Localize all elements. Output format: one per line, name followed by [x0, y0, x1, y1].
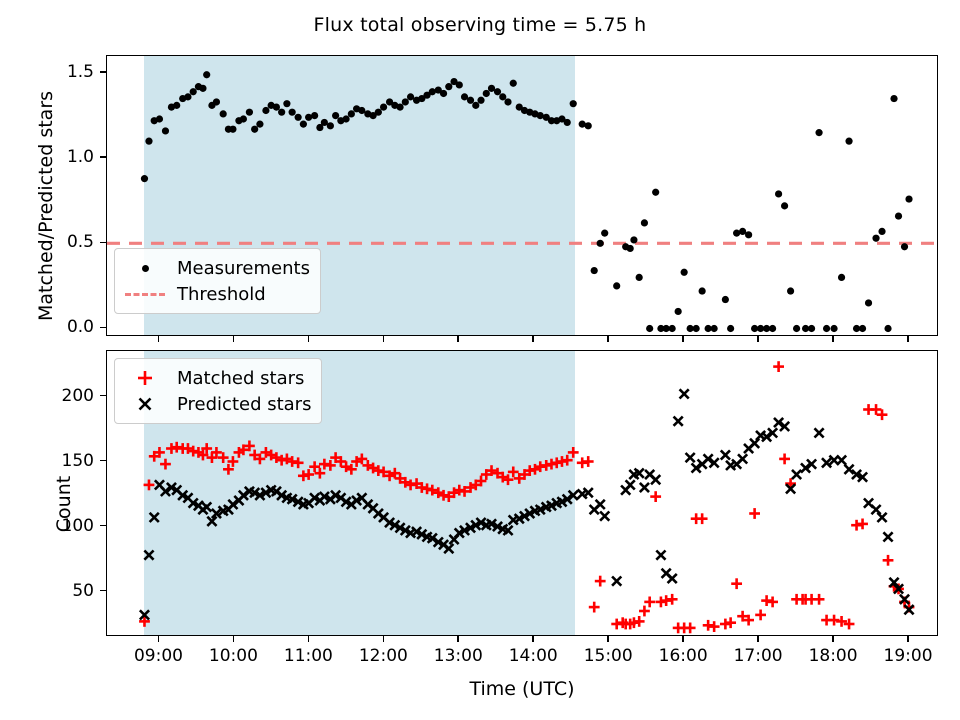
bottom-panel-legend: Matched stars Predicted stars — [114, 358, 322, 424]
x-tick-mark — [907, 336, 909, 342]
legend-label-predicted-stars: Predicted stars — [167, 394, 311, 415]
x-tick-mark — [158, 636, 160, 642]
legend-item-measurements: Measurements — [123, 255, 310, 281]
legend-label-threshold: Threshold — [167, 284, 266, 305]
x-tick-mark — [682, 336, 684, 342]
x-tick-mark — [457, 336, 459, 342]
y-tick-mark — [100, 395, 106, 397]
plus-marker-icon — [123, 368, 167, 388]
x-tick-label: 14:00 — [493, 646, 573, 666]
y-tick-label: 1.0 — [30, 147, 94, 167]
legend-item-predicted-stars: Predicted stars — [123, 391, 311, 417]
y-tick-mark — [100, 242, 106, 244]
figure-canvas: Flux total observing time = 5.75 h Match… — [0, 0, 960, 720]
y-tick-mark — [100, 525, 106, 527]
y-tick-label: 1.5 — [30, 62, 94, 82]
x-tick-label: 11:00 — [268, 646, 348, 666]
x-tick-label: 09:00 — [118, 646, 198, 666]
x-tick-mark — [757, 636, 759, 642]
y-tick-label: 0.0 — [30, 317, 94, 337]
dashed-line-icon — [123, 293, 167, 296]
y-tick-mark — [100, 327, 106, 329]
x-axis-label: Time (UTC) — [106, 678, 938, 700]
x-tick-mark — [233, 336, 235, 342]
x-tick-mark — [607, 336, 609, 342]
x-tick-label: 12:00 — [343, 646, 423, 666]
y-tick-label: 0.5 — [30, 232, 94, 252]
y-tick-mark — [100, 460, 106, 462]
y-tick-label: 150 — [30, 451, 94, 471]
x-tick-label: 13:00 — [418, 646, 498, 666]
x-tick-mark — [383, 336, 385, 342]
page-title: Flux total observing time = 5.75 h — [0, 14, 960, 36]
x-tick-mark — [682, 636, 684, 642]
x-tick-mark — [383, 636, 385, 642]
dot-marker-icon — [123, 265, 167, 272]
x-tick-label: 16:00 — [643, 646, 723, 666]
x-tick-mark — [757, 336, 759, 342]
x-tick-mark — [308, 636, 310, 642]
x-tick-mark — [907, 636, 909, 642]
x-tick-label: 10:00 — [193, 646, 273, 666]
x-tick-label: 18:00 — [793, 646, 873, 666]
x-tick-mark — [233, 636, 235, 642]
y-tick-mark — [100, 590, 106, 592]
x-tick-mark — [532, 636, 534, 642]
x-tick-label: 17:00 — [718, 646, 798, 666]
top-panel-y-axis-label: Matched/Predicted stars — [35, 56, 57, 356]
y-tick-label: 200 — [30, 386, 94, 406]
y-tick-label: 50 — [30, 581, 94, 601]
legend-label-matched-stars: Matched stars — [167, 368, 304, 389]
x-tick-mark — [832, 336, 834, 342]
x-tick-label: 15:00 — [568, 646, 648, 666]
y-tick-mark — [100, 156, 106, 158]
x-tick-mark — [158, 336, 160, 342]
legend-item-matched-stars: Matched stars — [123, 365, 311, 391]
legend-item-threshold: Threshold — [123, 281, 310, 307]
y-tick-label: 100 — [30, 516, 94, 536]
cross-marker-icon — [123, 394, 167, 414]
x-tick-mark — [607, 636, 609, 642]
y-tick-mark — [100, 71, 106, 73]
x-tick-mark — [457, 636, 459, 642]
top-panel-legend: Measurements Threshold — [114, 248, 321, 314]
x-tick-mark — [532, 336, 534, 342]
legend-label-measurements: Measurements — [167, 258, 310, 279]
x-tick-label: 19:00 — [868, 646, 948, 666]
x-tick-mark — [308, 336, 310, 342]
x-tick-mark — [832, 636, 834, 642]
